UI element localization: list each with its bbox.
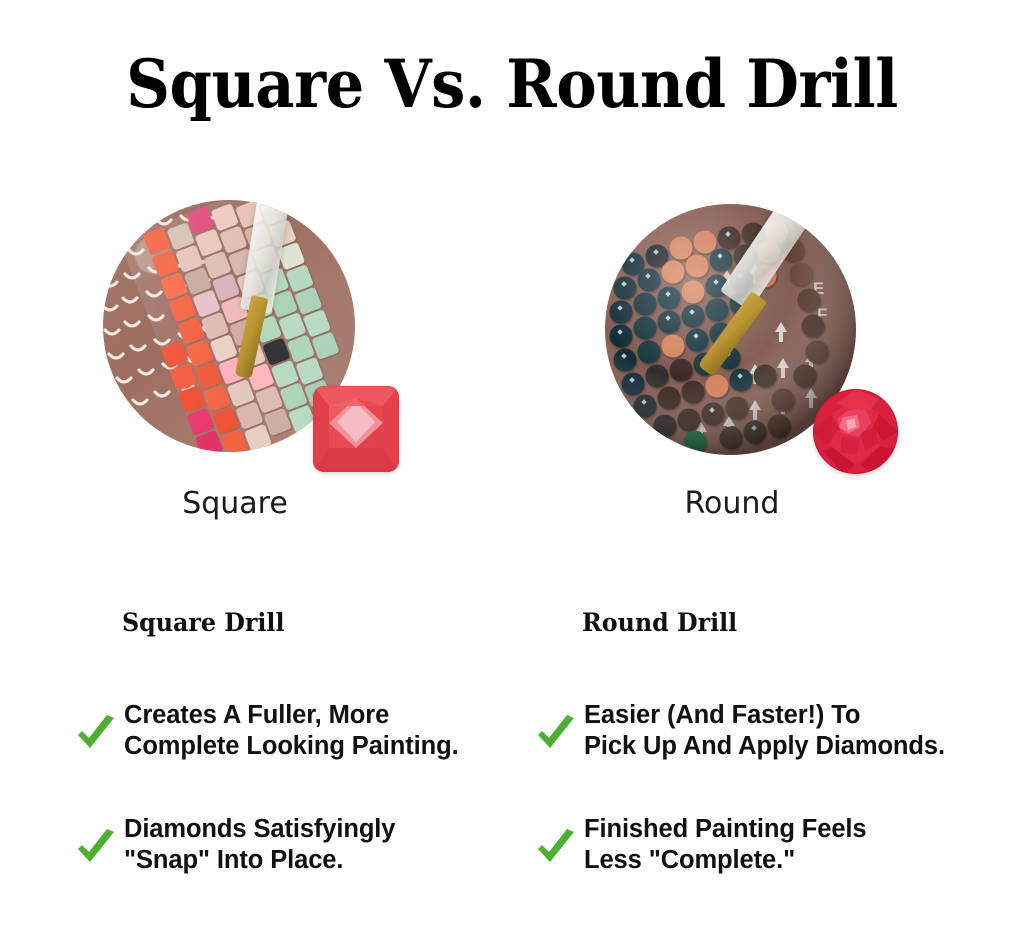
benefit-item: Finished Painting Feels Less "Complete."	[582, 814, 1002, 876]
square-photo-caption: Square	[103, 486, 367, 522]
benefit-item: Diamonds Satisfyingly "Snap" Into Place.	[122, 814, 522, 876]
page-title: Square Vs. Round Drill	[41, 46, 983, 122]
benefit-text: Finished Painting Feels Less "Complete."	[584, 814, 867, 876]
benefit-item: Creates A Fuller, More Complete Looking …	[122, 700, 522, 762]
check-icon	[534, 827, 578, 871]
benefit-text: Creates A Fuller, More Complete Looking …	[124, 700, 459, 762]
square-drill-heading: Square Drill	[122, 608, 502, 638]
check-icon	[74, 827, 118, 871]
check-icon	[74, 713, 118, 757]
square-drill-gem	[313, 386, 399, 472]
round-drill-gem	[813, 389, 898, 474]
benefit-text: Easier (And Faster!) To Pick Up And Appl…	[584, 700, 945, 762]
benefit-item: Easier (And Faster!) To Pick Up And Appl…	[582, 700, 1002, 762]
round-drill-heading: Round Drill	[582, 608, 981, 638]
round-photo-caption: Round	[600, 486, 864, 522]
benefit-text: Diamonds Satisfyingly "Snap" Into Place.	[124, 814, 395, 876]
square-drill-column: Square Drill Creates A Fuller, More Comp…	[122, 608, 522, 928]
check-icon	[534, 713, 578, 757]
round-drill-column: Round Drill Easier (And Faster!) To Pick…	[582, 608, 1002, 928]
